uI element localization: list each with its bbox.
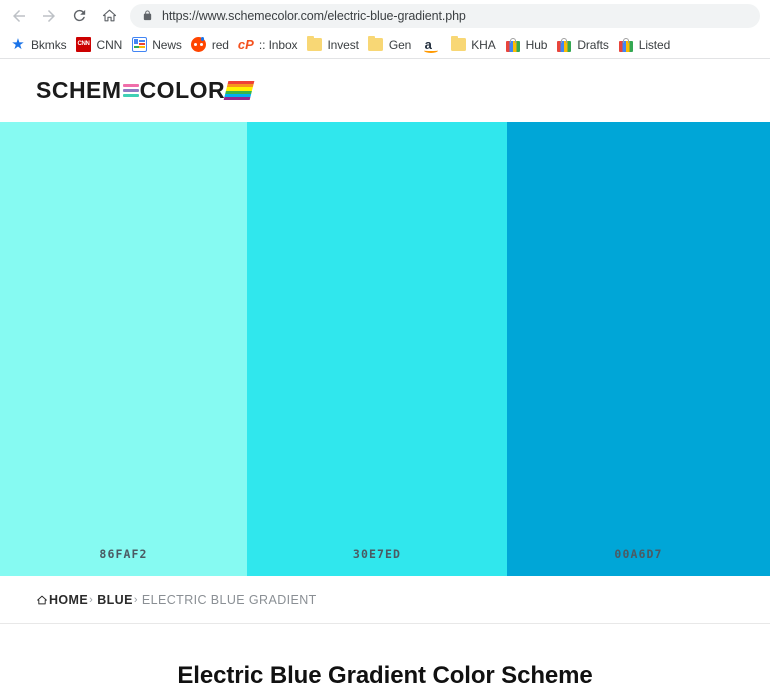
bookmark-inbox[interactable]: cP :: Inbox bbox=[235, 34, 304, 56]
home-button[interactable] bbox=[94, 2, 124, 30]
bookmark-label: red bbox=[212, 38, 229, 52]
breadcrumb-bar: HOME › BLUE › ELECTRIC BLUE GRADIENT bbox=[0, 576, 770, 624]
shopping-bag-icon bbox=[505, 37, 521, 53]
page-title: Electric Blue Gradient Color Scheme bbox=[177, 662, 592, 692]
cnn-icon-text: CNN bbox=[76, 37, 91, 52]
home-icon bbox=[36, 594, 48, 606]
bookmark-label: CNN bbox=[97, 38, 123, 52]
breadcrumb: HOME › BLUE › ELECTRIC BLUE GRADIENT bbox=[36, 593, 317, 607]
bookmark-red[interactable]: red bbox=[188, 34, 235, 56]
folder-icon bbox=[306, 37, 322, 53]
google-news-icon bbox=[131, 37, 147, 53]
address-bar[interactable]: https://www.schemecolor.com/electric-blu… bbox=[130, 4, 760, 28]
swatch-hex-label: 30E7ED bbox=[353, 547, 401, 561]
reddit-icon bbox=[191, 37, 207, 53]
logo-rainbow-flag-icon bbox=[224, 81, 255, 100]
folder-icon bbox=[368, 37, 384, 53]
bookmark-hub[interactable]: Hub bbox=[502, 34, 554, 56]
bookmark-invest[interactable]: Invest bbox=[303, 34, 364, 56]
bookmark-bkmks[interactable]: ★ Bkmks bbox=[7, 34, 73, 56]
shopping-bag-icon bbox=[618, 37, 634, 53]
bookmark-label: Bkmks bbox=[31, 38, 67, 52]
bookmark-label: Hub bbox=[526, 38, 548, 52]
forward-button[interactable] bbox=[34, 2, 64, 30]
shopping-bag-icon bbox=[556, 37, 572, 53]
bookmark-news[interactable]: News bbox=[128, 34, 188, 56]
color-swatch[interactable]: 00A6D7 bbox=[507, 122, 770, 576]
folder-icon bbox=[450, 37, 466, 53]
breadcrumb-separator: › bbox=[134, 594, 138, 606]
logo-text-color: COLOR bbox=[140, 79, 226, 102]
page-title-area: Electric Blue Gradient Color Scheme bbox=[0, 624, 770, 692]
bookmark-label: :: Inbox bbox=[259, 38, 298, 52]
bookmark-drafts[interactable]: Drafts bbox=[553, 34, 614, 56]
bookmark-label: KHA bbox=[471, 38, 495, 52]
house-icon bbox=[101, 7, 118, 24]
logo-text-schem: SCHEM bbox=[36, 79, 122, 102]
bookmark-listed[interactable]: Listed bbox=[615, 34, 676, 56]
amazon-icon: a bbox=[420, 37, 436, 53]
reload-icon bbox=[71, 7, 88, 24]
reload-button[interactable] bbox=[64, 2, 94, 30]
swatch-hex-label: 00A6D7 bbox=[614, 547, 662, 561]
bookmark-label: Invest bbox=[327, 38, 358, 52]
color-swatch-strip: 86FAF2 30E7ED 00A6D7 bbox=[0, 122, 770, 576]
site-logo[interactable]: SCHEM COLOR bbox=[36, 79, 252, 102]
bookmarks-bar: ★ Bkmks CNN CNN News red cP :: Inbox Inv… bbox=[0, 31, 770, 59]
arrow-right-icon bbox=[40, 7, 58, 25]
browser-toolbar: https://www.schemecolor.com/electric-blu… bbox=[0, 0, 770, 31]
logo-equal-bars-icon bbox=[123, 84, 139, 97]
copper-p-icon: cP bbox=[238, 37, 254, 53]
cnn-icon: CNN bbox=[76, 37, 92, 53]
breadcrumb-item-blue[interactable]: BLUE bbox=[97, 593, 133, 607]
lock-icon bbox=[142, 9, 153, 22]
bookmark-cnn[interactable]: CNN CNN bbox=[73, 34, 129, 56]
bookmark-gen[interactable]: Gen bbox=[365, 34, 417, 56]
color-swatch[interactable]: 86FAF2 bbox=[0, 122, 247, 576]
page-content: SCHEM COLOR 86FAF2 30E7ED 00A6 bbox=[0, 59, 770, 692]
bookmark-amazon[interactable]: a bbox=[417, 34, 447, 56]
bookmark-label: Listed bbox=[639, 38, 670, 52]
arrow-left-icon bbox=[10, 7, 28, 25]
breadcrumb-item-home[interactable]: HOME bbox=[49, 593, 88, 607]
star-icon: ★ bbox=[10, 37, 26, 53]
back-button[interactable] bbox=[4, 2, 34, 30]
color-swatch[interactable]: 30E7ED bbox=[247, 122, 507, 576]
copper-p-icon-text: cP bbox=[238, 38, 254, 51]
url-text: https://www.schemecolor.com/electric-blu… bbox=[162, 9, 466, 23]
bookmark-label: Drafts bbox=[577, 38, 608, 52]
breadcrumb-item-current: ELECTRIC BLUE GRADIENT bbox=[142, 593, 317, 607]
bookmark-label: Gen bbox=[389, 38, 411, 52]
amazon-icon-text: a bbox=[425, 38, 432, 51]
site-header: SCHEM COLOR bbox=[0, 59, 770, 122]
bookmark-kha[interactable]: KHA bbox=[447, 34, 501, 56]
swatch-hex-label: 86FAF2 bbox=[99, 547, 147, 561]
breadcrumb-separator: › bbox=[89, 594, 93, 606]
bookmark-label: News bbox=[152, 38, 182, 52]
